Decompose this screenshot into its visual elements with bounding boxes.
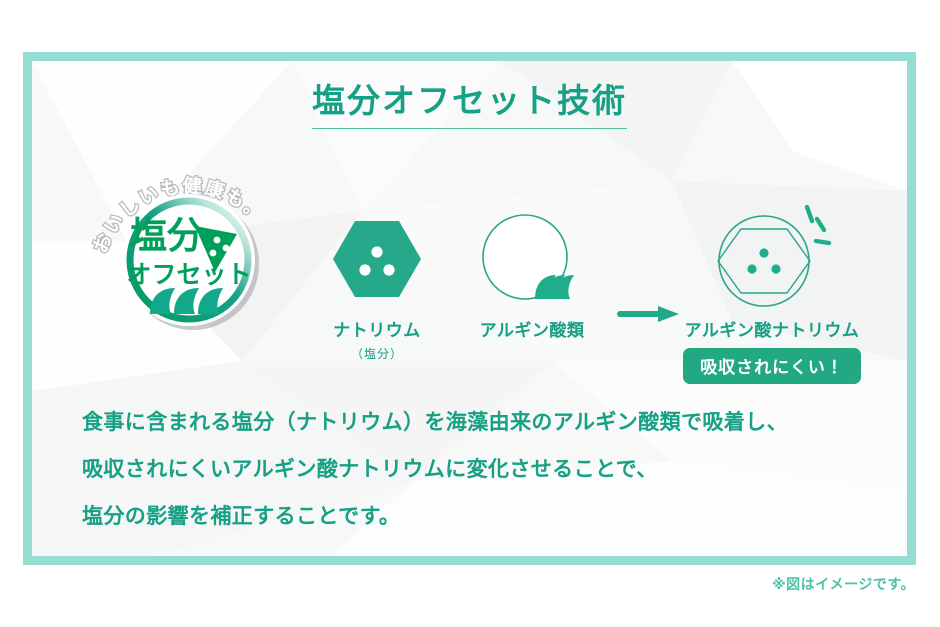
footnote: ※図はイメージです。 <box>772 574 915 594</box>
sparkle-lines-icon <box>807 207 829 243</box>
body-copy: 食事に含まれる塩分（ナトリウム）を海藻由来のアルギン酸類で吸着し、 吸収されにく… <box>82 399 882 540</box>
sodium-sublabel: （塩分） <box>282 345 472 362</box>
salt-offset-logo: おいしいも健康も。 塩分 オフセット <box>89 156 289 341</box>
molecule-alginate: アルギン酸類 <box>437 201 627 341</box>
body-line-1: 食事に含まれる塩分（ナトリウム）を海藻由来のアルギン酸類で吸着し、 <box>82 399 882 446</box>
alginate-label: アルギン酸類 <box>437 316 627 341</box>
logo-wave-shapes <box>150 288 223 314</box>
page-title: 塩分オフセット技術 <box>312 83 627 129</box>
body-line-3: 塩分の影響を補正することです。 <box>82 493 882 540</box>
molecule-sodium-alginate: アルギン酸ナトリウム 吸収されにくい！ <box>632 201 912 384</box>
logo-line2: オフセット <box>126 261 251 289</box>
page-title-wrapper: 塩分オフセット技術 <box>32 83 907 129</box>
circle-hexagon-sparkle-icon <box>632 201 912 316</box>
circle-seaweed-icon <box>437 201 627 316</box>
result-label: アルギン酸ナトリウム <box>632 316 912 341</box>
status-badge: 吸収されにくい！ <box>683 348 861 384</box>
infographic-frame: 塩分オフセット技術 おいしいも健康も。 <box>23 52 916 565</box>
logo-line1: 塩分 <box>130 215 205 256</box>
body-line-2: 吸収されにくいアルギン酸ナトリウムに変化させることで、 <box>82 446 882 493</box>
